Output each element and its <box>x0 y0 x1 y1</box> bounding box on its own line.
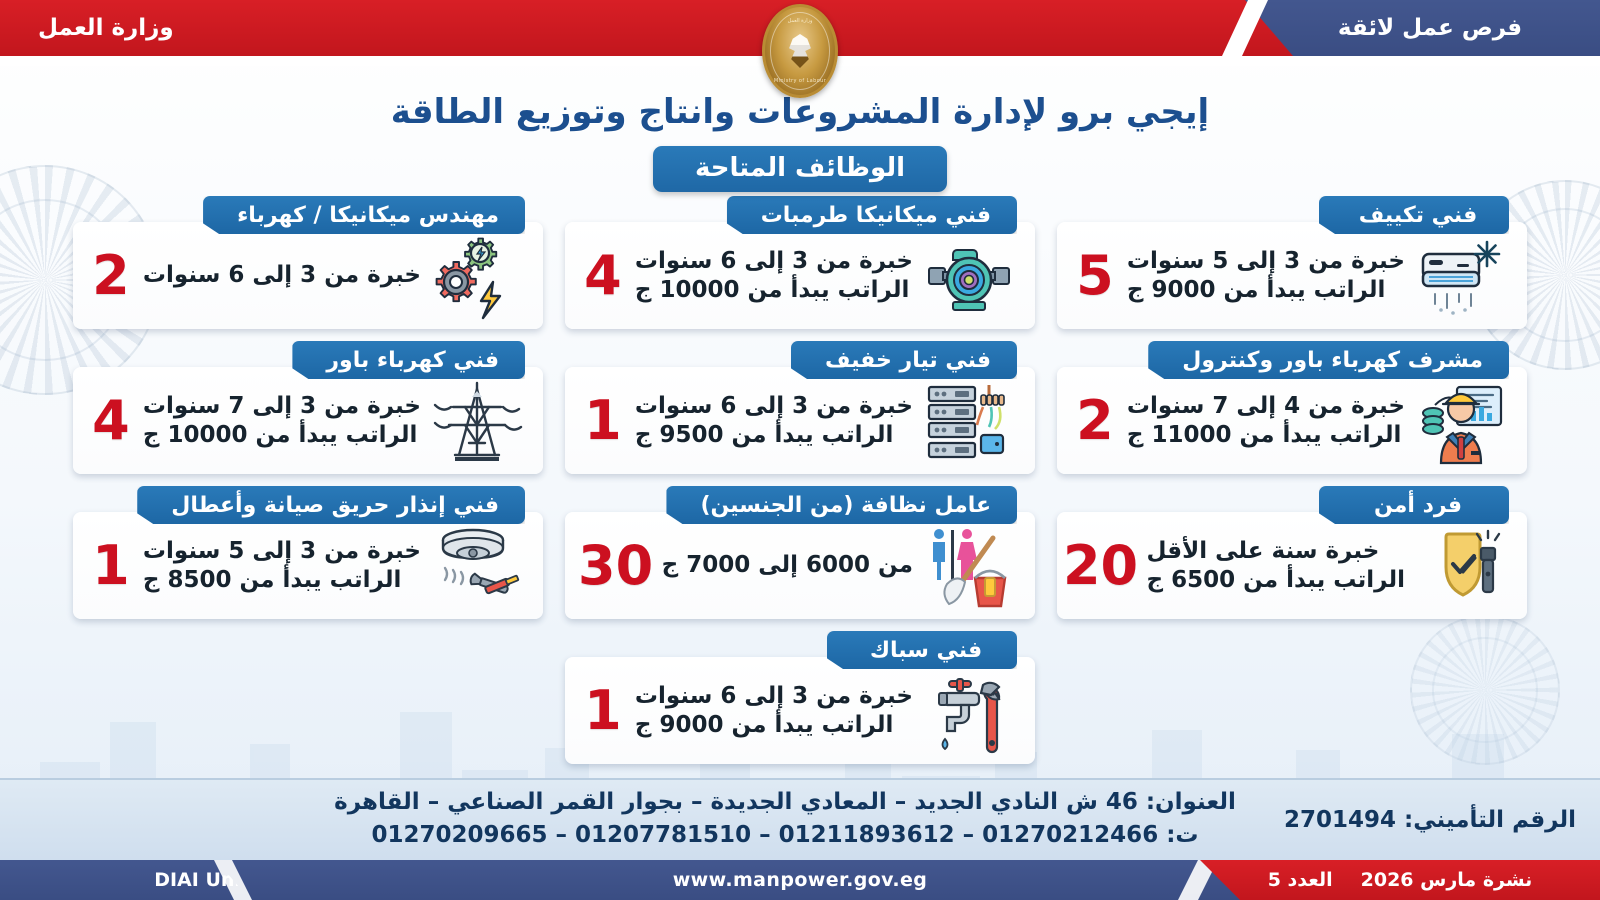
job-title-ribbon: فني تكييف <box>1319 196 1509 234</box>
experience-line: خبرة من 3 إلى 6 سنوات <box>635 247 913 275</box>
job-card[interactable]: فني تيار خفيف <box>565 341 1035 474</box>
job-details: خبرة من 3 إلى 6 سنوات الراتب يبدأ من 950… <box>629 392 917 448</box>
gears-bolt-icon <box>425 228 529 324</box>
phones-line: ت: 01270212466 – 01211893612 – 012077815… <box>300 819 1270 852</box>
job-title-ribbon: فرد أمن <box>1319 486 1509 524</box>
job-card[interactable]: مهندس ميكانيكا / كهرباء <box>73 196 543 329</box>
experience-line: خبرة من 3 إلى 6 سنوات <box>635 682 913 710</box>
insurance-number: الرقم التأميني: 2701494 <box>1284 807 1576 833</box>
job-details: خبرة من 3 إلى 5 سنوات الراتب يبدأ من 850… <box>137 537 425 593</box>
server-rack-icon <box>917 373 1021 469</box>
job-card-body: خبرة من 3 إلى 6 سنوات 2 <box>73 222 543 329</box>
supervisor-engineer-icon <box>1409 373 1513 469</box>
vacancy-count: 1 <box>573 684 629 738</box>
address-line: العنوان: 46 ش النادي الجديد – المعادي ال… <box>300 786 1270 819</box>
header-ministry-label: وزارة العمل <box>38 0 174 56</box>
job-title-ribbon: فني كهرباء باور <box>292 341 525 379</box>
job-card-body: خبرة سنة على الأقل الراتب يبدأ من 6500 ج… <box>1057 512 1527 619</box>
job-card-body: خبرة من 3 إلى 6 سنوات الراتب يبدأ من 950… <box>565 367 1035 474</box>
experience-line: خبرة سنة على الأقل <box>1147 537 1380 565</box>
job-title-ribbon: مشرف كهرباء باور وكنترول <box>1148 341 1509 379</box>
job-card[interactable]: فني سباك <box>565 631 1035 764</box>
vacancy-count: 5 <box>1065 249 1121 303</box>
salary-line: الراتب يبدأ من 10000 ج <box>635 276 909 304</box>
job-details: من 6000 إلى 7000 ج <box>656 551 917 579</box>
eagle-of-saladin-icon <box>787 34 813 68</box>
page-title: إيجي برو لإدارة المشروعات وانتاج وتوزيع … <box>0 92 1600 132</box>
contact-bar: العنوان: 46 ش النادي الجديد – المعادي ال… <box>0 778 1600 860</box>
job-card[interactable]: فني تكييف <box>1057 196 1527 329</box>
job-card[interactable]: فني كهرباء باور <box>73 341 543 474</box>
infographic-page: فرص عمل لائقة وزارة العمل وزارة العمل Mi… <box>0 0 1600 900</box>
vacancy-count: 20 <box>1057 539 1141 593</box>
experience-line: خبرة من 3 إلى 7 سنوات <box>143 392 421 420</box>
job-card[interactable]: مشرف كهرباء باور وكنترول <box>1057 341 1527 474</box>
salary-line: الراتب يبدأ من 9500 ج <box>635 421 893 449</box>
bulletin-info: نشرة مارس 2026 العدد 5 <box>1200 860 1600 900</box>
experience-line: خبرة من 3 إلى 5 سنوات <box>143 537 421 565</box>
bottom-bar: www.manpower.gov.eg DIAI Unit نشرة مارس … <box>0 860 1600 900</box>
salary-line: الراتب يبدأ من 11000 ج <box>1127 421 1401 449</box>
issue-number: العدد 5 <box>1268 869 1333 891</box>
jobs-grid: فني تكييف <box>0 196 1600 776</box>
power-pylon-icon <box>425 373 529 469</box>
job-title-ribbon: مهندس ميكانيكا / كهرباء <box>203 196 525 234</box>
salary-line: الراتب يبدأ من 6500 ج <box>1147 566 1405 594</box>
job-details: خبرة من 3 إلى 6 سنوات الراتب يبدأ من 100… <box>629 247 917 303</box>
job-details: خبرة سنة على الأقل الراتب يبدأ من 6500 ج <box>1141 537 1409 593</box>
jobs-row: مشرف كهرباء باور وكنترول <box>0 341 1600 474</box>
water-pump-icon <box>917 228 1021 324</box>
job-card-body: خبرة من 3 إلى 6 سنوات الراتب يبدأ من 900… <box>565 657 1035 764</box>
smoke-detector-icon <box>425 518 529 614</box>
available-jobs-badge: الوظائف المتاحة <box>653 146 947 192</box>
emblem-inner: وزارة العمل Ministry of Labour <box>770 12 830 90</box>
jobs-row: فني سباك <box>0 631 1600 764</box>
salary-line: الراتب يبدأ من 9000 ج <box>635 711 893 739</box>
job-title-ribbon: عامل نظافة (من الجنسين) <box>666 486 1017 524</box>
job-title-ribbon: فني تيار خفيف <box>791 341 1017 379</box>
vacancy-count: 2 <box>81 249 137 303</box>
job-card[interactable]: فني ميكانيكا طرمبات <box>565 196 1035 329</box>
salary-line: الراتب يبدأ من 9000 ج <box>1127 276 1385 304</box>
job-title-ribbon: فني سباك <box>827 631 1017 669</box>
header-slogan: فرص عمل لائقة <box>1260 0 1600 56</box>
job-details: خبرة من 3 إلى 6 سنوات <box>137 261 425 289</box>
salary-line: من 6000 إلى 7000 ج <box>662 551 913 579</box>
job-card-body: خبرة من 3 إلى 6 سنوات الراتب يبدأ من 100… <box>565 222 1035 329</box>
vacancy-count: 2 <box>1065 394 1121 448</box>
contact-details: العنوان: 46 ش النادي الجديد – المعادي ال… <box>300 786 1270 853</box>
vacancy-count: 1 <box>81 539 137 593</box>
bulletin-date: نشرة مارس 2026 <box>1361 869 1533 891</box>
jobs-row: فني تكييف <box>0 196 1600 329</box>
job-details: خبرة من 3 إلى 5 سنوات الراتب يبدأ من 900… <box>1121 247 1409 303</box>
experience-line: خبرة من 4 إلى 7 سنوات <box>1127 392 1405 420</box>
job-details: خبرة من 3 إلى 6 سنوات الراتب يبدأ من 900… <box>629 682 917 738</box>
job-card-body: خبرة من 3 إلى 5 سنوات الراتب يبدأ من 900… <box>1057 222 1527 329</box>
emblem-top-text: وزارة العمل <box>788 18 813 24</box>
experience-line: خبرة من 3 إلى 6 سنوات <box>635 392 913 420</box>
job-card-body: خبرة من 3 إلى 5 سنوات الراتب يبدأ من 850… <box>73 512 543 619</box>
experience-line: خبرة من 3 إلى 5 سنوات <box>1127 247 1405 275</box>
vacancy-count: 30 <box>572 539 656 593</box>
job-card-body: خبرة من 4 إلى 7 سنوات الراتب يبدأ من 110… <box>1057 367 1527 474</box>
faucet-wrench-icon <box>917 663 1021 759</box>
job-details: خبرة من 3 إلى 7 سنوات الراتب يبدأ من 100… <box>137 392 425 448</box>
job-card-body: من 6000 إلى 7000 ج 30 <box>565 512 1035 619</box>
job-card-body: خبرة من 3 إلى 7 سنوات الراتب يبدأ من 100… <box>73 367 543 474</box>
salary-line: الراتب يبدأ من 8500 ج <box>143 566 401 594</box>
cleaning-mop-bucket-icon <box>917 518 1021 614</box>
unit-label: DIAI Unit <box>0 860 250 900</box>
job-card[interactable]: فرد أمن <box>1057 486 1527 619</box>
air-conditioner-icon <box>1409 228 1513 324</box>
ministry-emblem-icon: وزارة العمل Ministry of Labour <box>762 4 838 98</box>
vacancy-count: 1 <box>573 394 629 448</box>
job-card[interactable]: فني إنذار حريق صيانة وأعطال <box>73 486 543 619</box>
job-title-ribbon: فني إنذار حريق صيانة وأعطال <box>137 486 525 524</box>
security-shield-icon <box>1409 518 1513 614</box>
salary-line: الراتب يبدأ من 10000 ج <box>143 421 417 449</box>
job-details: خبرة من 4 إلى 7 سنوات الراتب يبدأ من 110… <box>1121 392 1409 448</box>
job-title-ribbon: فني ميكانيكا طرمبات <box>727 196 1017 234</box>
emblem-bottom-text: Ministry of Labour <box>774 78 826 84</box>
job-card[interactable]: عامل نظافة (من الجنسين) <box>565 486 1035 619</box>
vacancy-count: 4 <box>573 249 629 303</box>
experience-line: خبرة من 3 إلى 6 سنوات <box>143 261 421 289</box>
vacancy-count: 4 <box>81 394 137 448</box>
jobs-row: فرد أمن <box>0 486 1600 619</box>
